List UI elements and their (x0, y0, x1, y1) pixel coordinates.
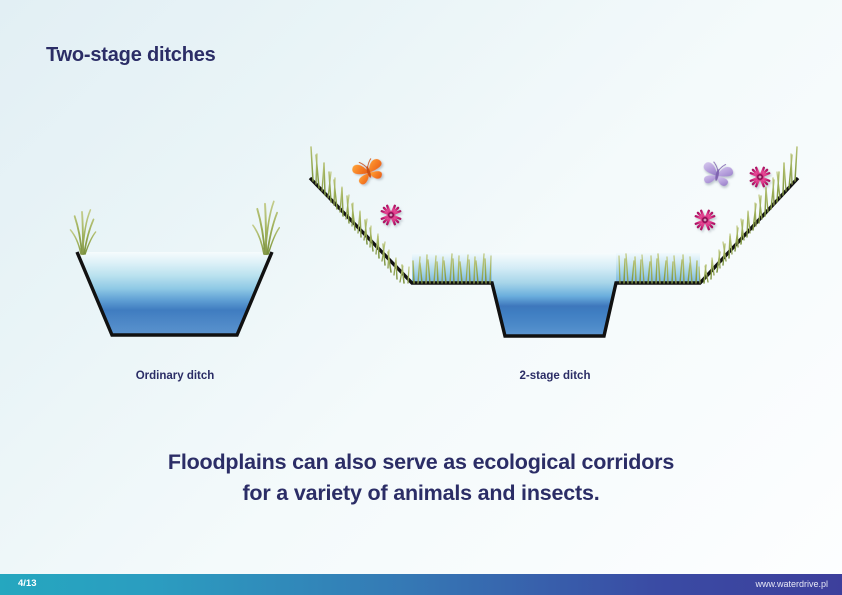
flower-pink-left (381, 205, 401, 225)
butterfly-orange-icon (351, 156, 387, 186)
flower-pink-center-right (695, 210, 715, 230)
butterfly-purple-icon (700, 160, 734, 188)
statement-line-2: for a variety of animals and insects. (0, 478, 842, 509)
footer-bar: 4/13 www.waterdrive.pl (0, 574, 842, 595)
ordinary-ditch-figure (70, 202, 279, 336)
page-indicator: 4/13 (18, 578, 37, 589)
slide-canvas: Two-stage ditches (0, 0, 842, 595)
website-url[interactable]: www.waterdrive.pl (755, 579, 828, 589)
statement-text: Floodplains can also serve as ecological… (0, 447, 842, 509)
flower-pink-right (750, 167, 770, 187)
grass-tuft-right (253, 202, 279, 255)
ordinary-ditch-caption: Ordinary ditch (0, 370, 350, 382)
statement-line-1: Floodplains can also serve as ecological… (0, 447, 842, 478)
inner-channel-water (492, 253, 616, 336)
grass-tuft-left (70, 210, 95, 254)
two-stage-ditch-figure (310, 147, 798, 336)
two-stage-ditch-caption: 2-stage ditch (400, 370, 710, 382)
